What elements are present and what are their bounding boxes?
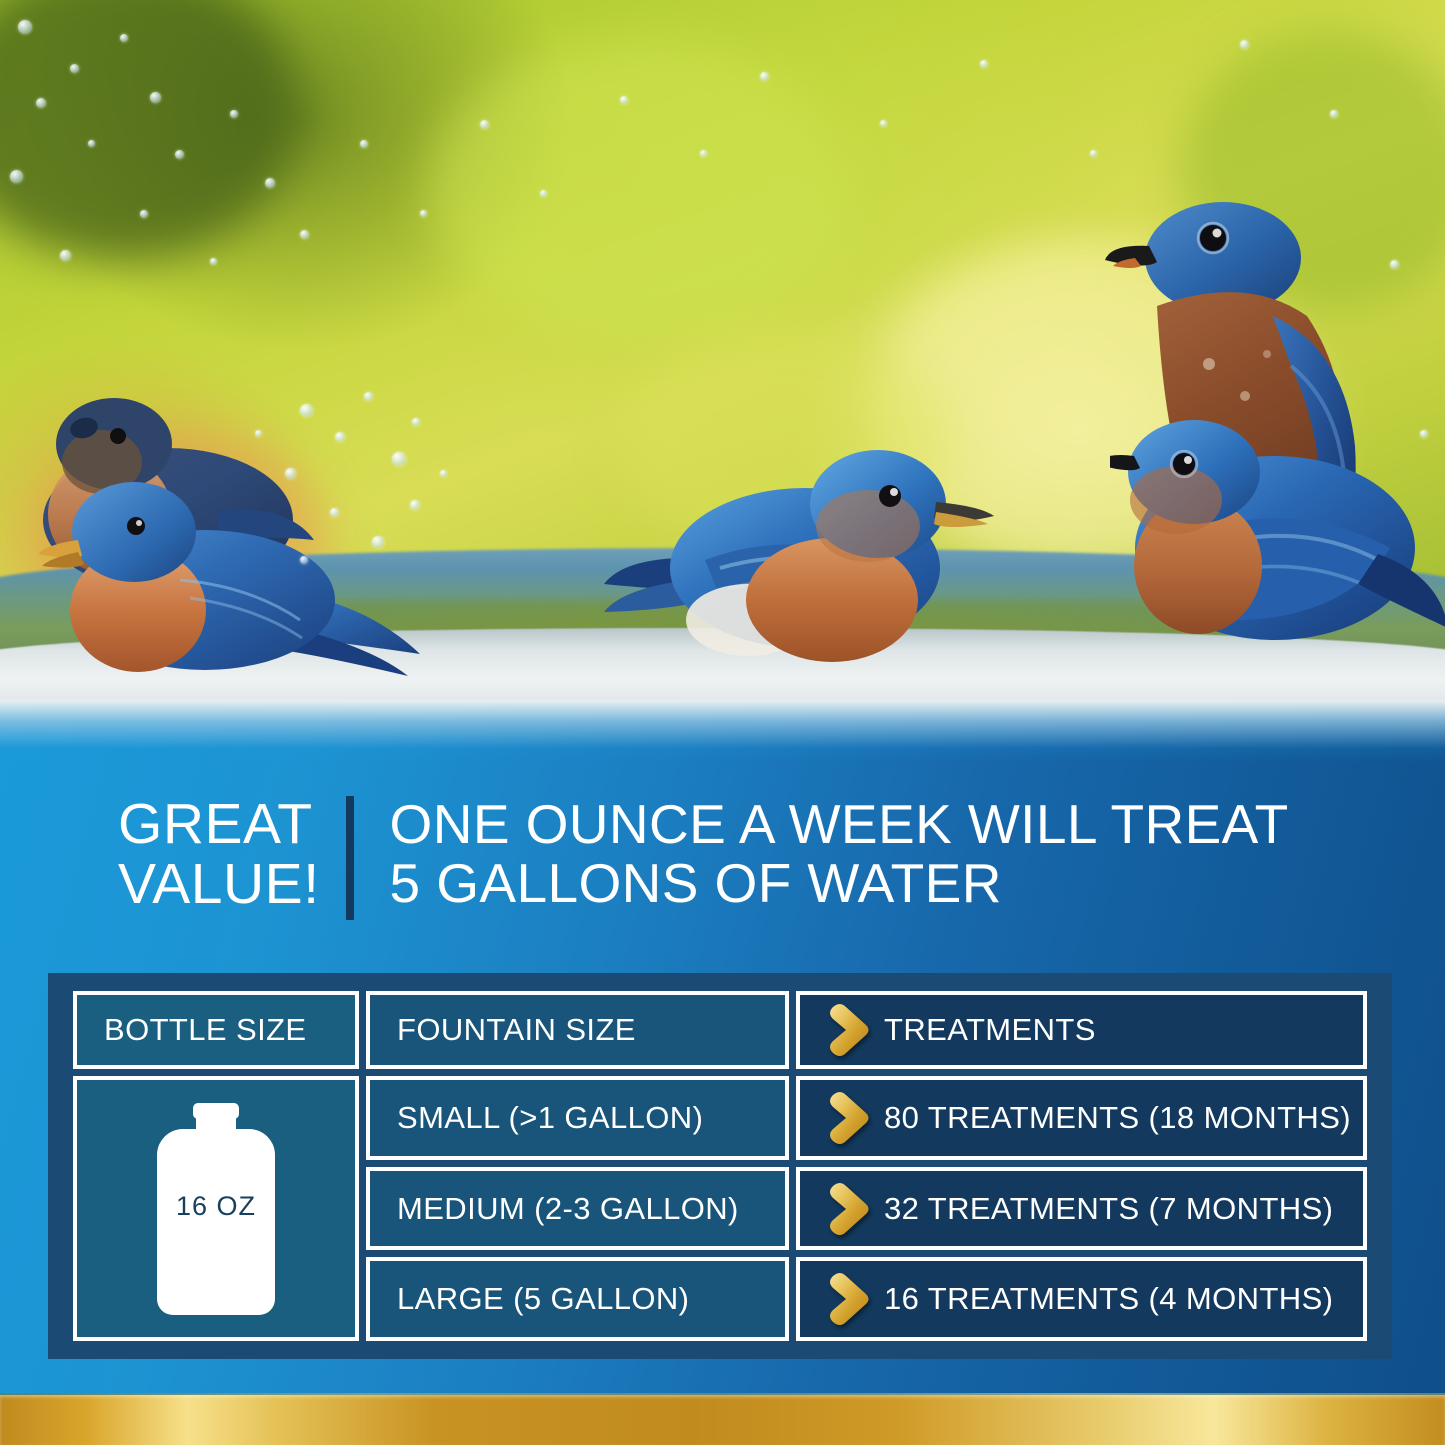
water-droplet xyxy=(880,120,887,127)
water-droplet xyxy=(70,64,79,73)
water-droplet xyxy=(300,230,309,239)
header-cell-fountain-size: FOUNTAIN SIZE xyxy=(366,991,789,1069)
water-droplet xyxy=(1330,110,1338,118)
bird-left-front xyxy=(30,470,450,685)
label-treatments-medium: 32 TREATMENTS (7 MONTHS) xyxy=(870,1191,1333,1227)
water-droplet xyxy=(760,72,769,81)
label-treatments-small: 80 TREATMENTS (18 MONTHS) xyxy=(870,1100,1351,1136)
water-droplet xyxy=(140,210,148,218)
bottle-cap xyxy=(193,1103,239,1119)
bird-center xyxy=(600,440,1020,670)
water-droplet xyxy=(265,178,275,188)
cell-fountain-size-small: SMALL (>1 GALLON) xyxy=(366,1076,789,1160)
headline-great-value: GREAT VALUE! xyxy=(118,792,320,914)
cell-treatments-small: 80 TREATMENTS (18 MONTHS) xyxy=(796,1076,1367,1160)
water-droplet xyxy=(120,34,128,42)
water-droplet xyxy=(175,150,184,159)
water-droplet xyxy=(300,404,313,417)
water-droplet xyxy=(540,190,547,197)
water-droplet xyxy=(392,452,406,466)
water-droplet xyxy=(36,98,46,108)
water-droplet xyxy=(412,418,420,426)
table-rows: SMALL (>1 GALLON) 80 TREATMENTS (18 MONT… xyxy=(366,1076,1367,1341)
water-droplet xyxy=(364,392,373,401)
bokeh-blob xyxy=(430,40,850,340)
water-droplet xyxy=(230,110,238,118)
header-cell-treatments: TREATMENTS xyxy=(796,991,1367,1069)
headline-dosage: ONE OUNCE A WEEK WILL TREAT 5 GALLONS OF… xyxy=(390,792,1289,913)
label-fountain-size-large: LARGE (5 GALLON) xyxy=(370,1281,689,1317)
water-droplet xyxy=(60,250,71,261)
header-label-treatments: TREATMENTS xyxy=(870,1012,1096,1048)
water-droplet xyxy=(440,470,447,477)
bluebird-bath-photo xyxy=(0,0,1445,710)
water-droplet xyxy=(480,120,489,129)
chevron-right-icon xyxy=(826,1272,870,1326)
cell-bottle-image: 16 OZ xyxy=(73,1076,359,1341)
water-droplet xyxy=(620,96,628,104)
label-fountain-size-small: SMALL (>1 GALLON) xyxy=(370,1100,703,1136)
table-header-row: BOTTLE SIZE FOUNTAIN SIZE xyxy=(73,991,1367,1069)
water-droplet xyxy=(420,210,427,217)
table-row: SMALL (>1 GALLON) 80 TREATMENTS (18 MONT… xyxy=(366,1076,1367,1160)
headline: GREAT VALUE! ONE OUNCE A WEEK WILL TREAT… xyxy=(118,792,1289,920)
water-droplet xyxy=(410,500,420,510)
water-droplet xyxy=(255,430,262,437)
chevron-right-icon xyxy=(826,1182,870,1236)
header-label-fountain-size: FOUNTAIN SIZE xyxy=(370,1012,636,1048)
bokeh-blob xyxy=(0,0,300,260)
water-droplet xyxy=(1240,40,1249,49)
table-row: LARGE (5 GALLON) 16 TREATMENTS (4 MONTHS… xyxy=(366,1257,1367,1341)
water-droplet xyxy=(1090,150,1097,157)
water-droplet xyxy=(372,536,384,548)
water-droplet xyxy=(330,508,339,517)
cell-fountain-size-large: LARGE (5 GALLON) xyxy=(366,1257,789,1341)
water-droplet xyxy=(335,432,345,442)
water-droplet xyxy=(210,258,217,265)
table-body: 16 OZ SMALL (>1 GALLON) xyxy=(73,1076,1367,1341)
label-fountain-size-medium: MEDIUM (2-3 GALLON) xyxy=(370,1191,739,1227)
chevron-right-icon xyxy=(826,1003,870,1057)
table-inner: BOTTLE SIZE FOUNTAIN SIZE xyxy=(73,991,1367,1341)
headline-divider xyxy=(346,796,354,920)
bottle-size-label: 16 OZ xyxy=(157,1191,275,1222)
bird-right-front xyxy=(1110,398,1445,658)
chevron-right-icon xyxy=(826,1091,870,1145)
cell-fountain-size-medium: MEDIUM (2-3 GALLON) xyxy=(366,1167,789,1251)
water-droplet xyxy=(18,20,32,34)
label-treatments-large: 16 TREATMENTS (4 MONTHS) xyxy=(870,1281,1333,1317)
table-row: MEDIUM (2-3 GALLON) 32 TREATMENTS (7 MON… xyxy=(366,1167,1367,1251)
bottom-gold-bar xyxy=(0,1395,1445,1445)
water-droplet xyxy=(88,140,95,147)
water-droplet xyxy=(150,92,161,103)
water-droplet xyxy=(10,170,23,183)
treatment-table: BOTTLE SIZE FOUNTAIN SIZE xyxy=(48,973,1392,1359)
water-droplet xyxy=(300,556,308,564)
header-label-bottle-size: BOTTLE SIZE xyxy=(77,1012,307,1048)
header-cell-bottle-size: BOTTLE SIZE xyxy=(73,991,359,1069)
water-droplet xyxy=(360,140,368,148)
water-droplet xyxy=(980,60,988,68)
panel-top-fade xyxy=(0,700,1445,762)
cell-treatments-large: 16 TREATMENTS (4 MONTHS) xyxy=(796,1257,1367,1341)
bottle-icon: 16 OZ xyxy=(157,1103,275,1315)
water-droplet xyxy=(285,468,296,479)
water-droplet xyxy=(700,150,707,157)
cell-treatments-medium: 32 TREATMENTS (7 MONTHS) xyxy=(796,1167,1367,1251)
infographic-canvas: GREAT VALUE! ONE OUNCE A WEEK WILL TREAT… xyxy=(0,0,1445,1445)
